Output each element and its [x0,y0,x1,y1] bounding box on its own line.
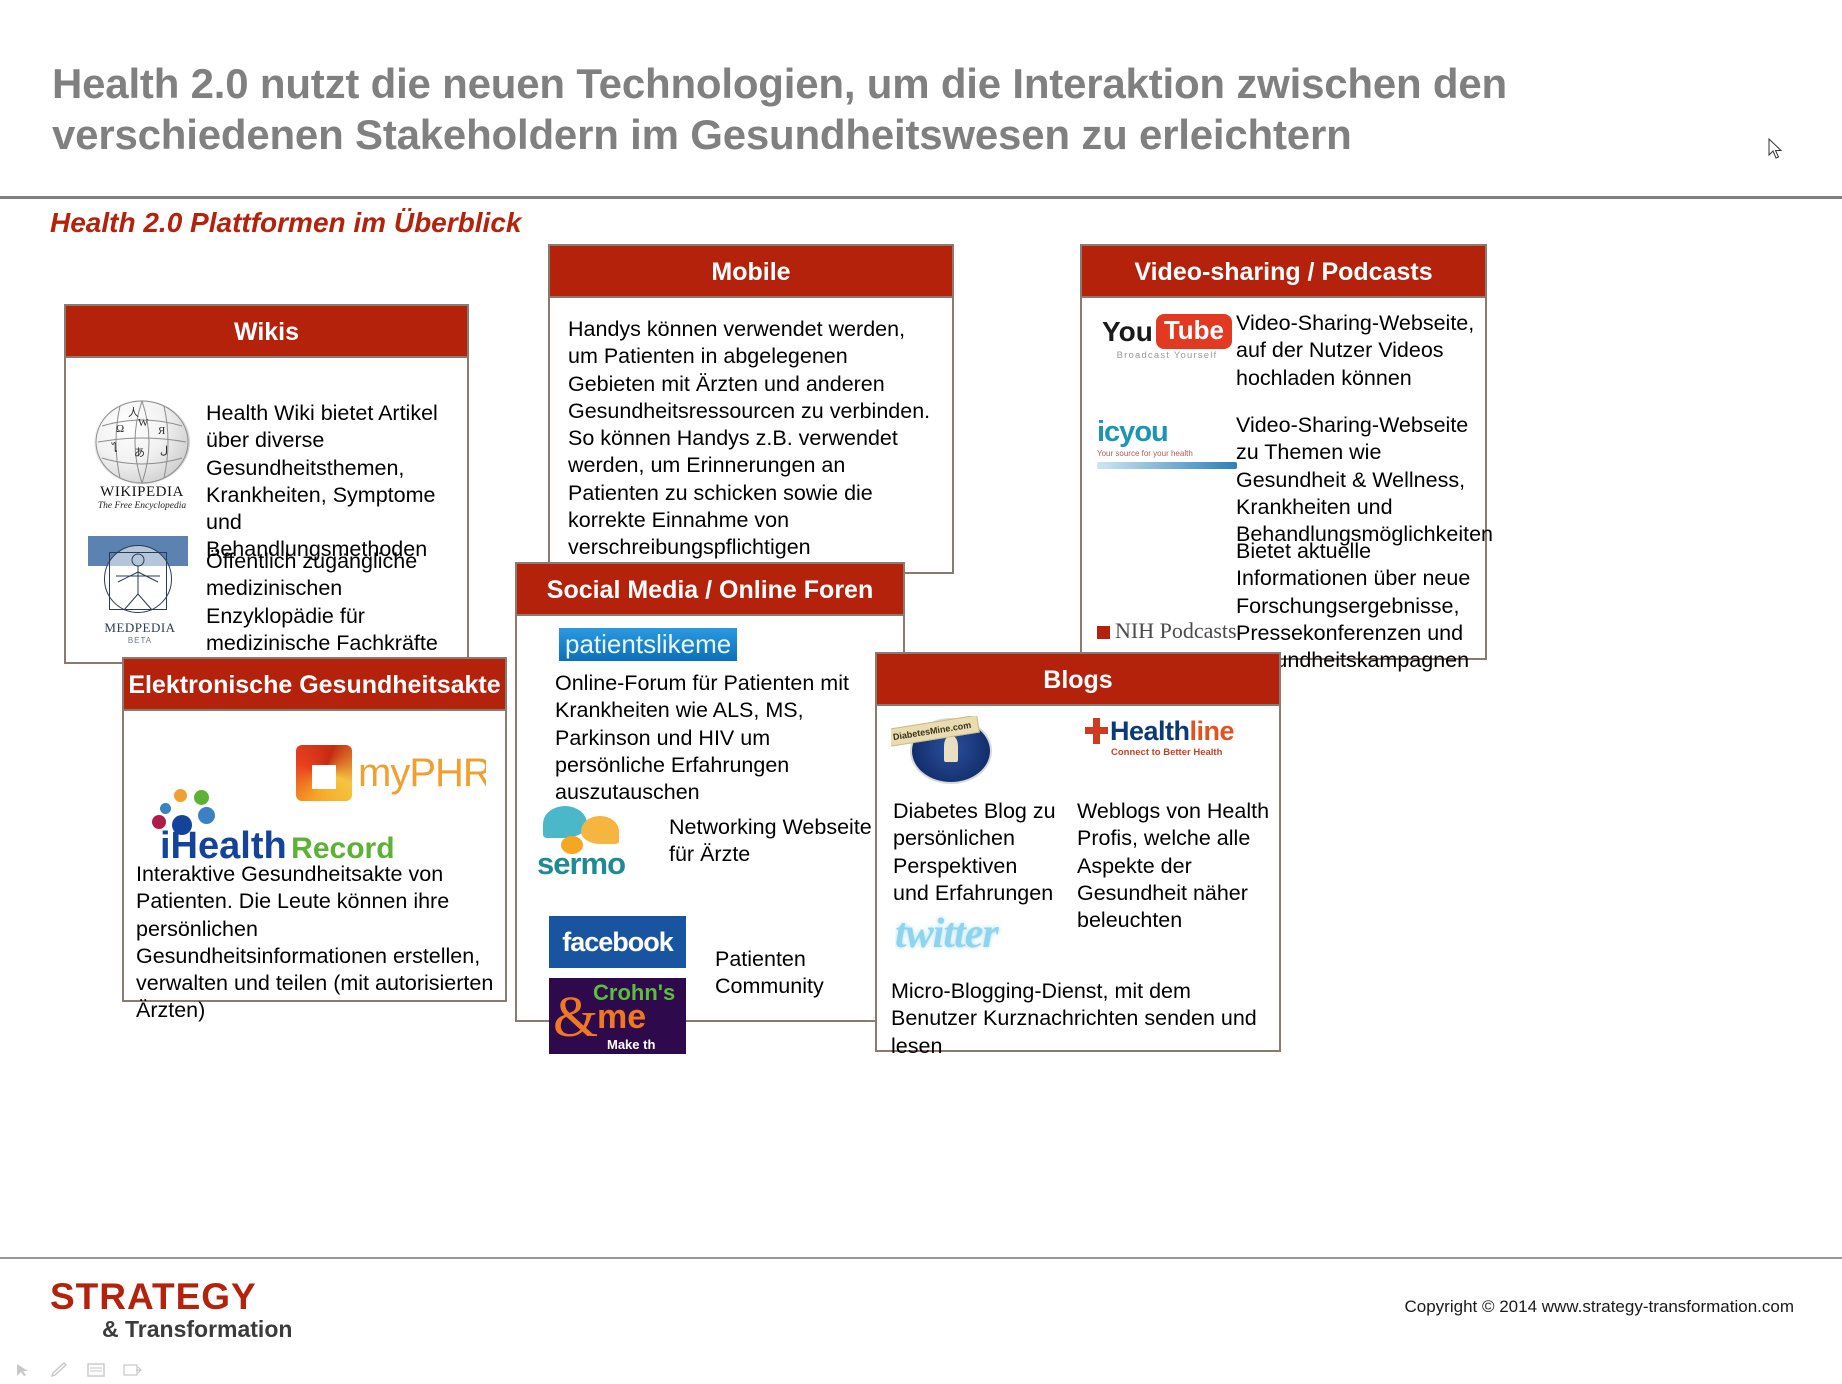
panel-mobile-header: Mobile [550,246,952,298]
wikipedia-logo-subtext: The Free Encyclopedia [90,501,194,510]
crohns-logo-subtext: Make th [607,1037,655,1052]
panel-wikis[interactable]: Wikis ΩW Яไ [64,304,469,664]
svg-text:ไ: ไ [111,442,118,455]
blogs-item-1-description: Diabetes Blog zu persönlichen Perspektiv… [893,798,1057,907]
twitter-logo: twitter [895,910,1105,972]
panel-social-media[interactable]: Social Media / Online Foren patientslike… [515,562,905,1022]
page-subtitle: Health 2.0 Plattformen im Überblick [50,207,521,239]
svg-text:Я: Я [158,425,166,437]
nih-podcasts-logo-text: NIH Podcasts [1115,618,1237,643]
social-item-1-description: Online-Forum für Patienten mit Krankheit… [555,670,875,806]
social-item-3-description: Patienten Community [715,946,890,1001]
facebook-logo-text: facebook [562,927,673,958]
panel-blogs[interactable]: Blogs DiabetesMine.com Healthline Connec… [875,652,1281,1052]
pointer-tool-icon[interactable] [14,1362,34,1378]
wikipedia-logo-text: WIKIPEDIA [90,484,194,501]
panel-social-header: Social Media / Online Foren [517,564,903,616]
slide-canvas: Health 2.0 nutzt die neuen Technologien,… [0,0,1842,1384]
crohns-logo-text2: me [597,998,646,1037]
icyou-logo: icyou Your source for your health [1097,416,1237,478]
wikis-item-1-description: Health Wiki bietet Artikel über diverse … [206,400,468,564]
blogs-item-3-description: Micro-Blogging-Dienst, mit dem Benutzer … [891,978,1271,1060]
panel-video-sharing[interactable]: Video-sharing / Podcasts You Tube Broadc… [1080,244,1487,660]
panel-elektronische-gesundheitsakte[interactable]: Elektronische Gesundheitsakte myPHR iHea… [122,657,507,1002]
ehr-description: Interaktive Gesundheitsakte von Patiente… [136,861,506,1025]
youtube-logo: You Tube Broadcast Yourself [1097,314,1237,372]
patientslikeme-logo: patientslikeme [559,628,739,664]
patientslikeme-logo-text: patientslikeme [559,628,737,661]
brand-line-2: & Transformation [102,1317,292,1342]
pen-tool-icon[interactable] [50,1362,70,1378]
svg-text:あ: あ [134,446,145,459]
wikis-item-2-description: Öffentlich zugängliche medizinischen Enz… [206,548,461,657]
medpedia-logo-text: MEDPEDIA [88,620,192,636]
youtube-logo-text2: Tube [1156,314,1232,349]
page-title: Health 2.0 nutzt die neuen Technologien,… [52,58,1752,160]
next-slide-icon[interactable] [122,1362,142,1378]
medical-cross-icon [1085,718,1107,744]
wikipedia-logo: ΩW Яไ あل 人 WIKIPEDIA The Free Encycloped… [90,400,194,510]
healthline-logo: Healthline Connect to Better Health [1085,716,1245,776]
status-bar [0,1356,1842,1384]
healthline-logo-text: Health [1110,716,1190,746]
diabetesmine-logo: DiabetesMine.com [891,716,1011,784]
icyou-logo-text: icyou [1097,416,1237,449]
svg-text:人: 人 [128,406,139,419]
twitter-logo-text: twitter [895,911,998,957]
title-divider [0,196,1842,199]
video-item-1-description: Video-Sharing-Webseite, auf der Nutzer V… [1236,310,1476,392]
healthline-logo-subtext: Connect to Better Health [1111,747,1245,758]
svg-text:ل: ل [160,445,168,457]
panel-ehr-header: Elektronische Gesundheitsakte [124,659,505,711]
brand-line-1: STRATEGY [50,1278,292,1315]
youtube-logo-subtext: Broadcast Yourself [1097,350,1237,361]
slide-view-icon[interactable] [86,1362,106,1378]
brand-logo: STRATEGY & Transformation [50,1278,292,1342]
sermo-logo: sermo Know more. Know earlier. [537,804,681,878]
copyright-text: Copyright © 2014 www.strategy-transforma… [1404,1297,1794,1317]
video-item-2-description: Video-Sharing-Webseite zu Themen wie Ges… [1236,412,1486,548]
mouse-cursor-icon [1768,138,1784,160]
crohns-and-me-logo: & Crohn's me Make th [549,978,686,1054]
panel-blogs-header: Blogs [877,654,1279,706]
panel-wikis-header: Wikis [66,306,467,358]
medpedia-logo-subtext: BETA [88,636,192,645]
healthline-logo-text2: line [1190,716,1235,746]
social-item-2-description: Networking Webseite für Ärzte [669,814,879,869]
facebook-logo: facebook [549,916,686,968]
svg-text:Ω: Ω [116,423,124,435]
medpedia-logo: MEDPEDIA BETA [88,536,192,656]
panel-mobile[interactable]: Mobile Handys können verwendet werden, u… [548,244,954,574]
mobile-description: Handys können verwendet werden, um Patie… [568,316,940,589]
svg-text:W: W [138,417,149,429]
blogs-item-2-description: Weblogs von Health Profis, welche alle A… [1077,798,1273,934]
youtube-logo-text: You [1102,316,1153,348]
panel-video-header: Video-sharing / Podcasts [1082,246,1485,298]
footer-divider [0,1257,1842,1259]
nih-podcasts-logo: NIH Podcasts [1097,618,1237,654]
icyou-logo-subtext: Your source for your health [1097,449,1237,458]
